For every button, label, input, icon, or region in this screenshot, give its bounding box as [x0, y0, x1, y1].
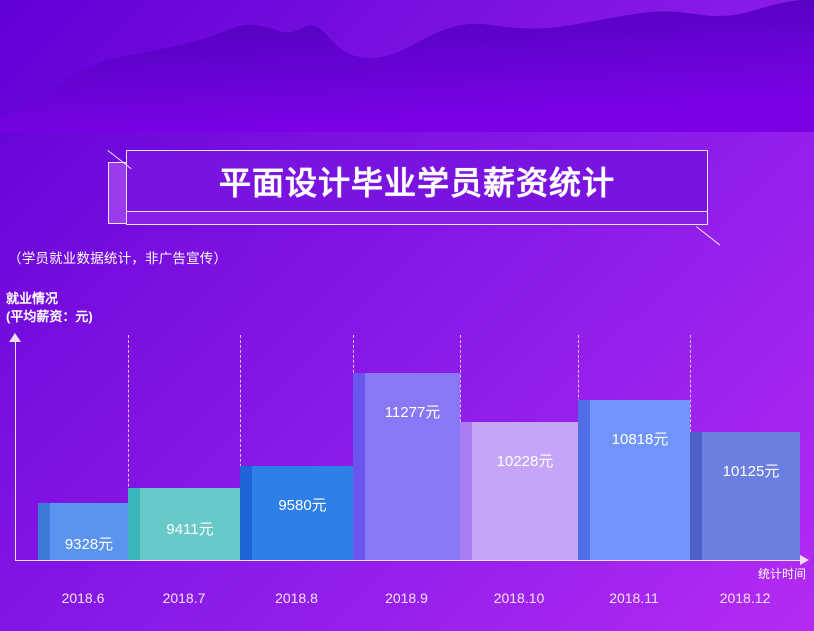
x-axis-caption: 统计时间	[758, 565, 806, 582]
poster-root: 平面设计毕业学员薪资统计 （学员就业数据统计，非广告宣传） 就业情况 (平均薪资…	[0, 0, 814, 631]
bar-side-facet	[38, 503, 50, 560]
x-tick-2018.12: 2018.12	[690, 590, 800, 606]
bar-side-facet	[353, 373, 365, 560]
x-axis-arrow	[800, 555, 809, 565]
bar-value-label: 9328元	[50, 533, 128, 554]
x-tick-2018.7: 2018.7	[128, 590, 240, 606]
bar-value-label: 10228元	[472, 450, 578, 471]
x-tick-2018.11: 2018.11	[578, 590, 690, 606]
bar-chart: 9328元9411元9580元11277元10228元10818元10125元 …	[0, 0, 814, 631]
x-tick-2018.10: 2018.10	[460, 590, 578, 606]
x-axis-line	[15, 560, 803, 561]
bar-value-label: 10818元	[590, 428, 690, 449]
bar-2018.6[interactable]: 9328元	[38, 503, 128, 560]
bar-2018.7[interactable]: 9411元	[128, 488, 240, 560]
bar-side-facet	[240, 466, 252, 560]
bar-2018.8[interactable]: 9580元	[240, 466, 353, 560]
bar-value-label: 11277元	[365, 401, 460, 422]
bar-front-facet	[590, 400, 690, 560]
bar-value-label: 10125元	[702, 460, 800, 481]
x-tick-2018.9: 2018.9	[353, 590, 460, 606]
bar-front-facet	[472, 422, 578, 560]
x-tick-2018.6: 2018.6	[38, 590, 128, 606]
bar-2018.9[interactable]: 11277元	[353, 373, 460, 560]
bar-front-facet	[702, 432, 800, 560]
bar-side-facet	[460, 422, 472, 560]
bar-value-label: 9411元	[140, 518, 240, 539]
bar-side-facet	[578, 400, 590, 560]
x-tick-2018.8: 2018.8	[240, 590, 353, 606]
y-axis-line	[15, 338, 16, 560]
bar-value-label: 9580元	[252, 494, 353, 515]
bar-2018.10[interactable]: 10228元	[460, 422, 578, 560]
bar-side-facet	[128, 488, 140, 560]
bar-side-facet	[690, 432, 702, 560]
bar-2018.11[interactable]: 10818元	[578, 400, 690, 560]
bar-2018.12[interactable]: 10125元	[690, 432, 800, 560]
